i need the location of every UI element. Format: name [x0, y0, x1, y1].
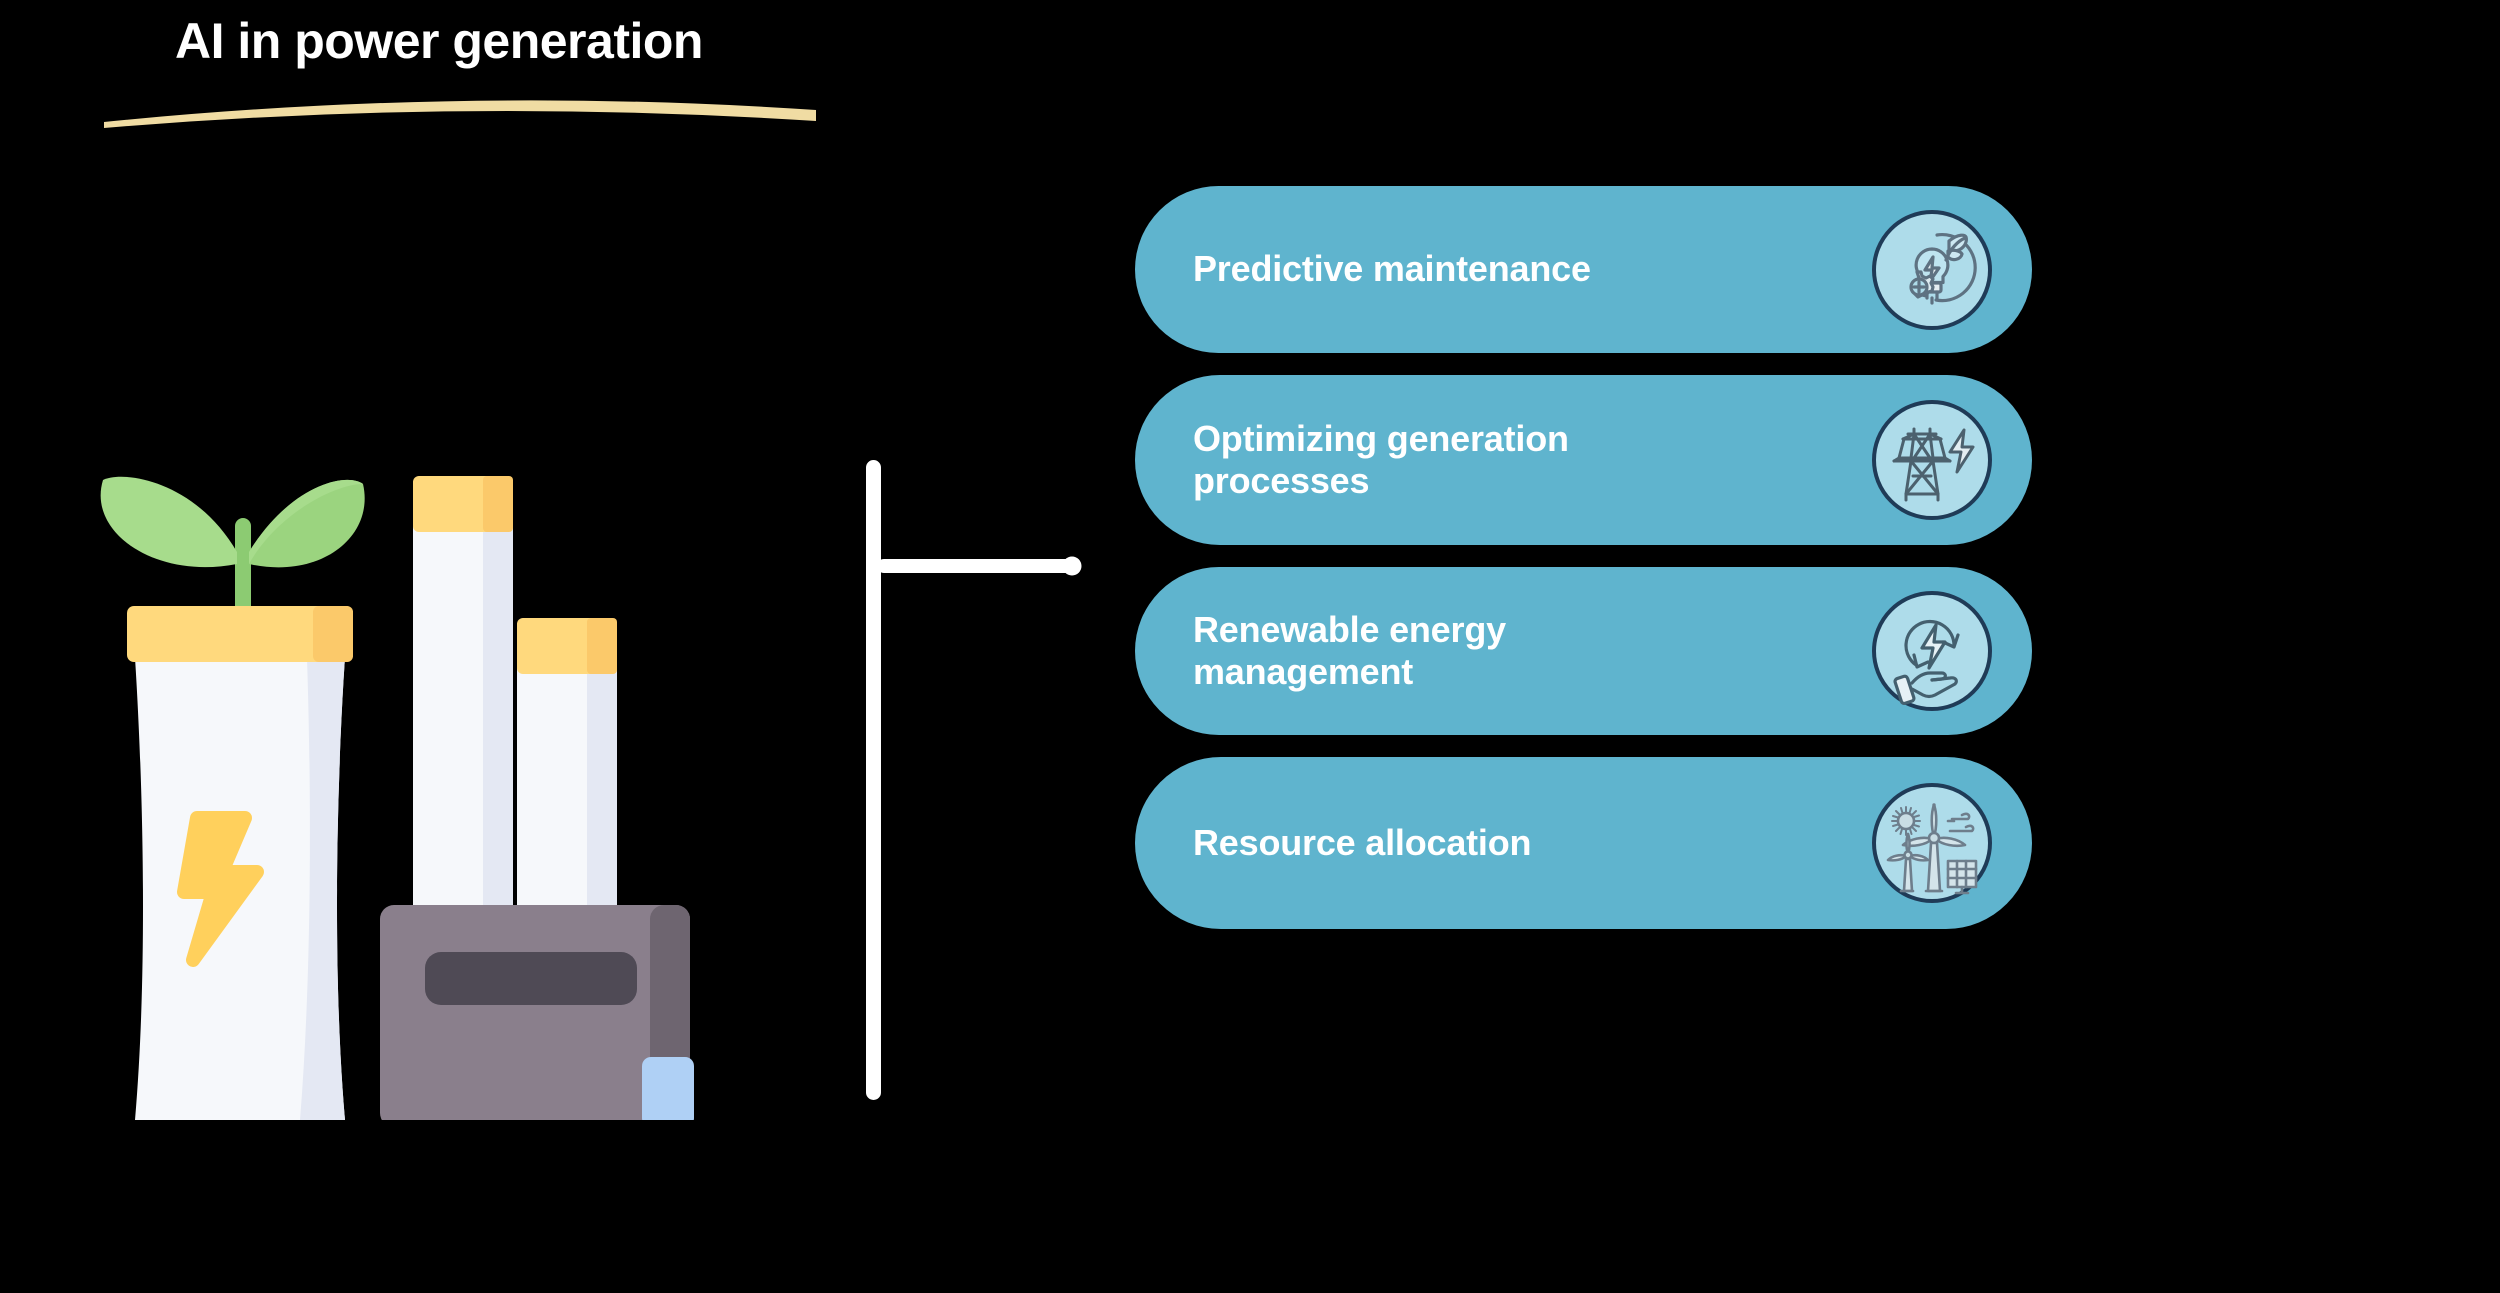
hand-lightning-recycle-icon: [1870, 589, 1994, 713]
feature-card-predictive-maintenance[interactable]: Predictive maintenance: [1135, 186, 2032, 353]
lightbulb-leaf-gear-plug-icon: [1870, 208, 1994, 332]
cooling-tower: [127, 606, 353, 1120]
connector-end-dot: [1063, 557, 1082, 576]
sprout-plant: [101, 477, 365, 628]
connector-vertical-line: [866, 460, 881, 1100]
plant-building: [380, 905, 694, 1120]
feature-card-list: Predictive maintenance: [1135, 186, 2035, 951]
connector-horizontal-line: [877, 559, 1075, 573]
branch-connector: [855, 450, 1095, 1130]
title-block: AI in power generation: [0, 0, 900, 140]
power-plant-illustration: [45, 440, 745, 1120]
page-title: AI in power generation: [175, 12, 703, 70]
sun-wind-turbine-solar-panel-icon: [1870, 781, 1994, 905]
card-label: Predictive maintenance: [1193, 248, 1870, 290]
feature-card-resource-allocation[interactable]: Resource allocation: [1135, 757, 2032, 929]
title-underline-decoration: [100, 88, 820, 128]
power-tower-lightning-icon: [1870, 398, 1994, 522]
card-label: Resource allocation: [1193, 822, 1870, 864]
feature-card-optimizing-generation-processes[interactable]: Optimizing generation processes: [1135, 375, 2032, 545]
solar-panel: [1948, 861, 1976, 893]
feature-card-renewable-energy-management[interactable]: Renewable energy management: [1135, 567, 2032, 735]
card-label: Renewable energy management: [1193, 609, 1870, 694]
card-label: Optimizing generation processes: [1193, 418, 1870, 503]
